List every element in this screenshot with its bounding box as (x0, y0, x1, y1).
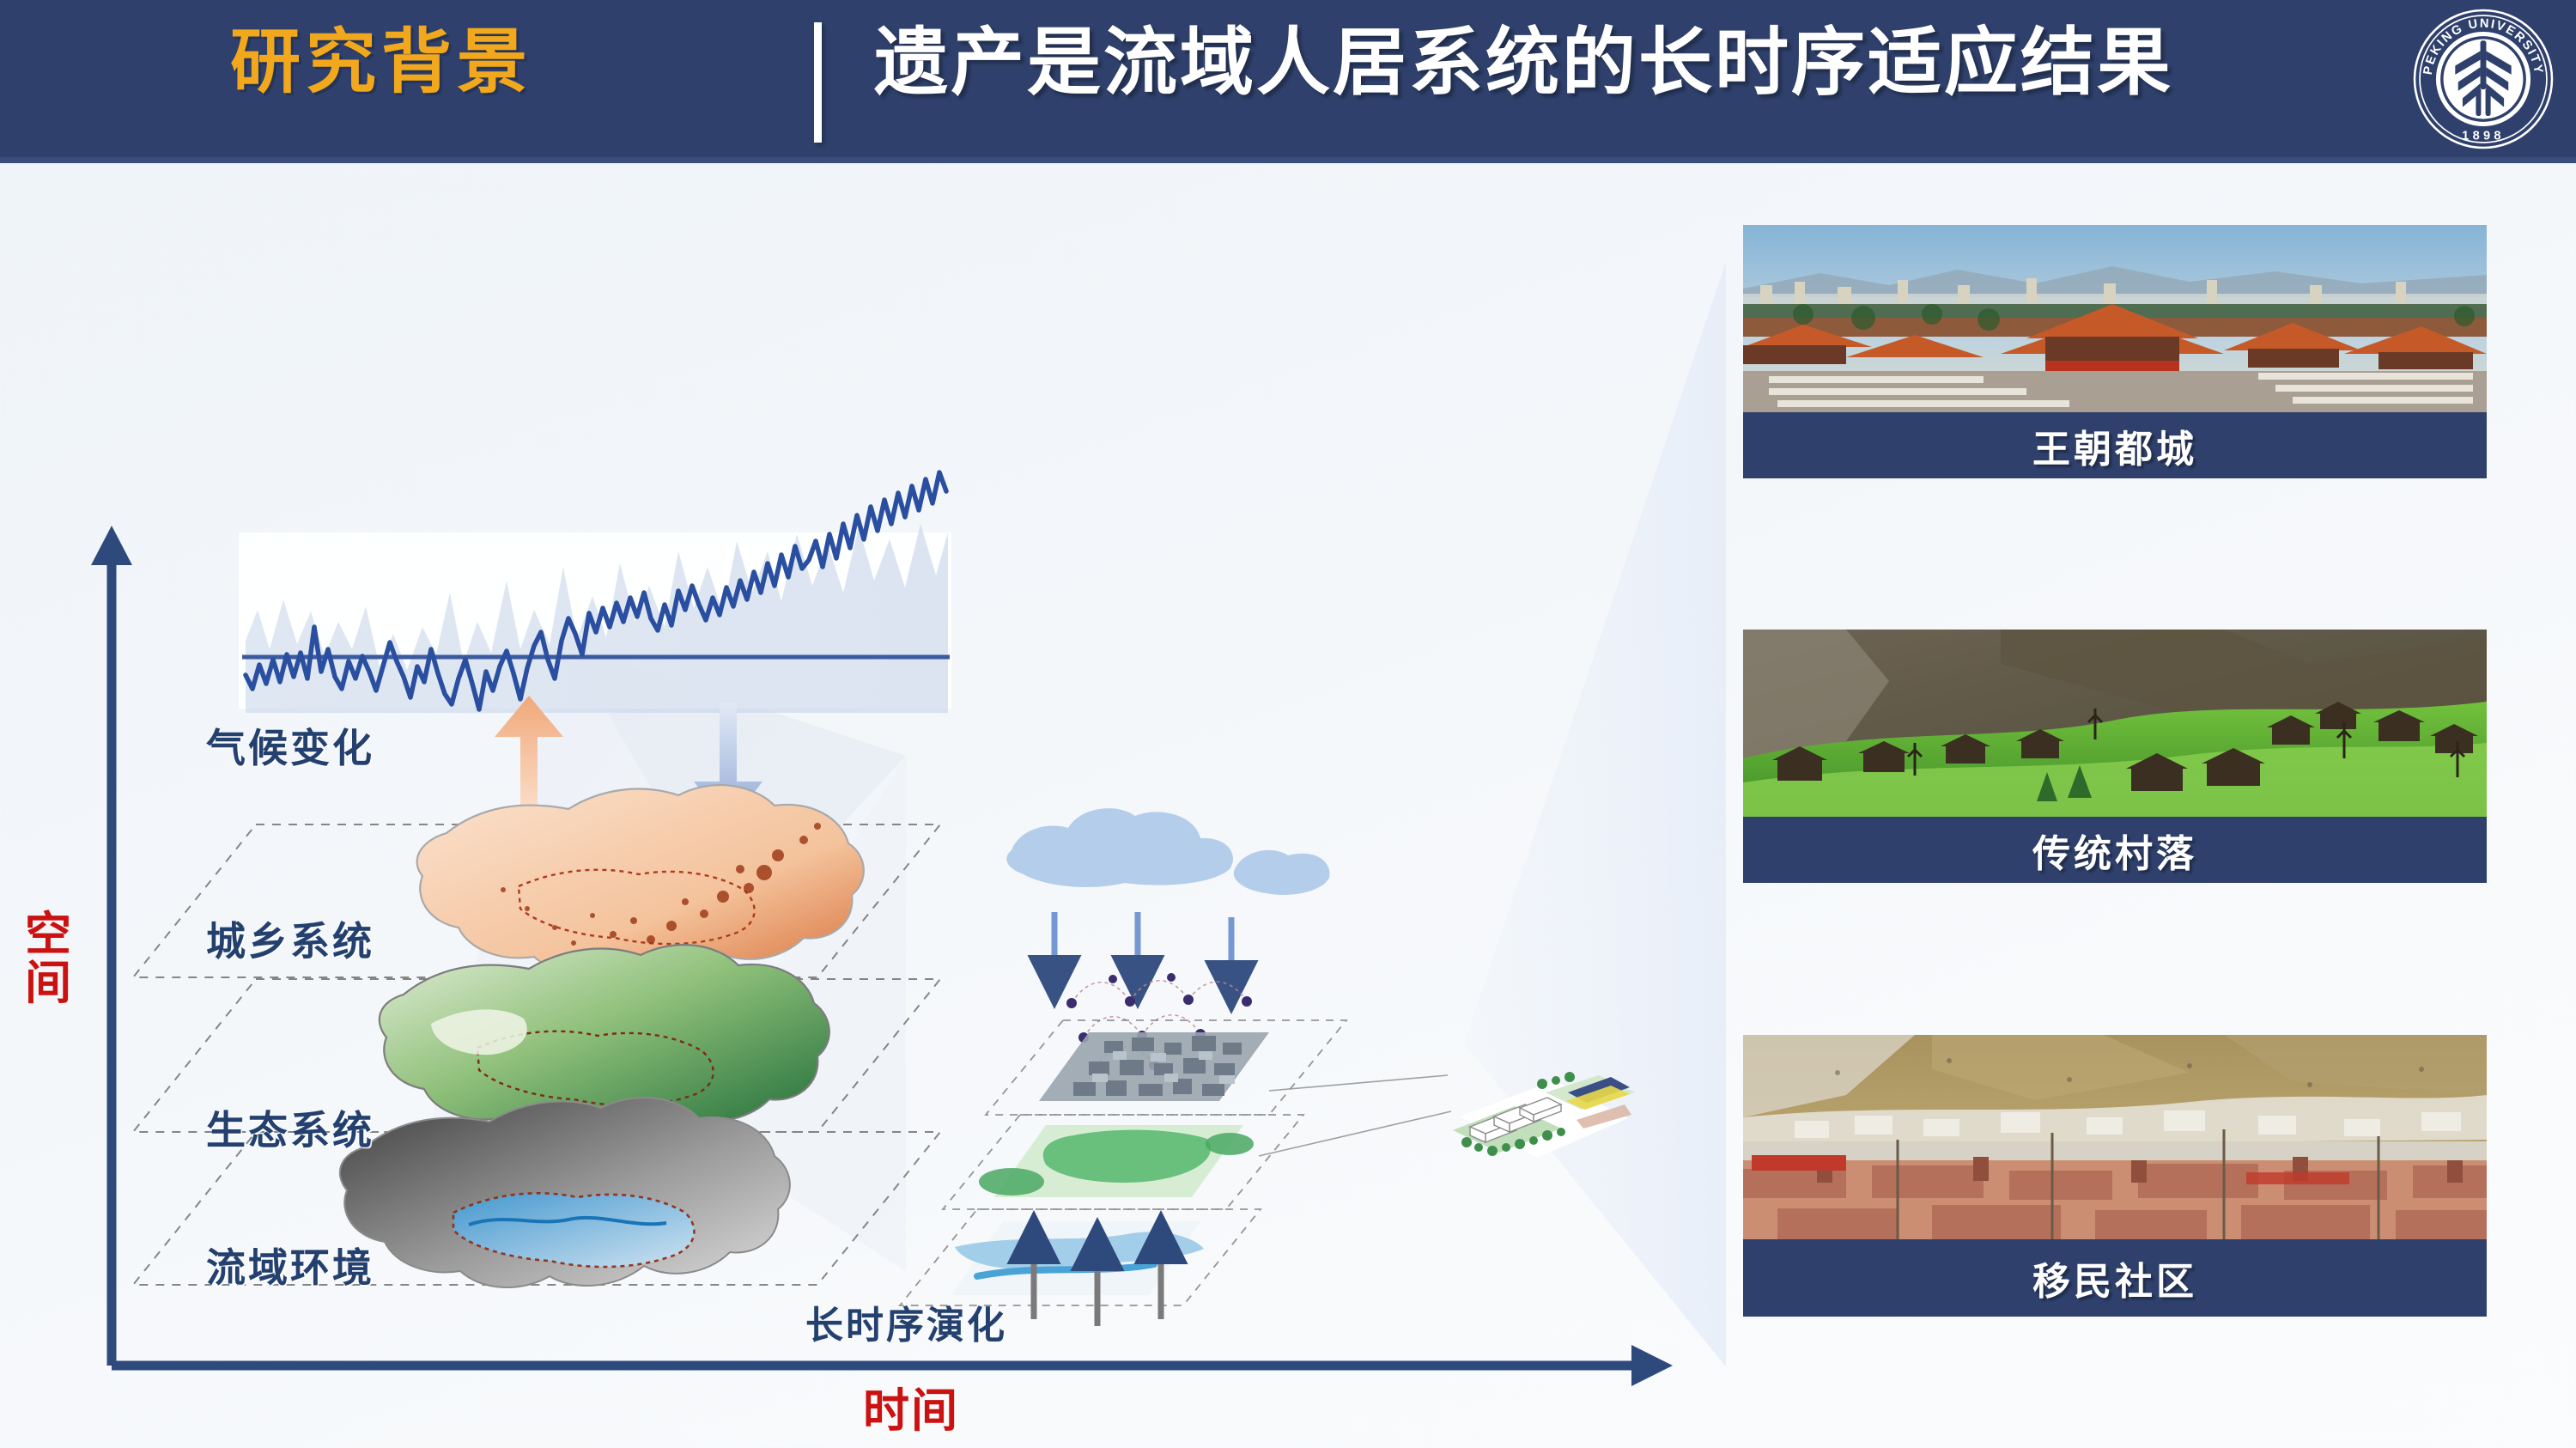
zoom-fan (1464, 223, 1726, 1383)
section-kicker: 研究背景 (230, 22, 532, 103)
header-divider (814, 22, 822, 143)
conceptual-diagram: 空间 时间 气候变化 城乡系统 生态系统 流域环境 长时序演化 (0, 163, 1726, 1448)
layer-label-basin: 流域环境 (206, 1237, 374, 1293)
peking-university-seal-logo: PEKING UNIVERSITY 1898 (2409, 5, 2557, 153)
photo-traditional-village (1743, 630, 2487, 817)
photo-migrant-community (1743, 1035, 2487, 1239)
layer-label-climate: 气候变化 (206, 717, 374, 774)
photo-card-traditional-village[interactable]: 传统村落 (1743, 630, 2487, 883)
photo-caption-traditional-village: 传统村落 (1743, 817, 2487, 883)
y-axis-label: 空间 (19, 910, 79, 1007)
layer-label-urban: 城乡系统 (206, 910, 374, 967)
photo-card-migrant-community[interactable]: 移民社区 (1743, 1035, 2487, 1317)
climate-change-chart (239, 472, 951, 713)
water-basin-layer (951, 1221, 1204, 1295)
header-accent-bar (0, 157, 2576, 163)
cloud-icons (1006, 808, 1329, 895)
slide-title: 遗产是流域人居系统的长时序适应结果 (874, 19, 2173, 107)
slide-header: 研究背景 遗产是流域人居系统的长时序适应结果 PEKING UNIVERSITY… (0, 0, 2576, 163)
photo-caption-migrant-community: 移民社区 (1743, 1239, 2487, 1317)
photo-card-dynastic-capital[interactable]: 王朝都城 (1743, 225, 2487, 478)
city-block-layer (1039, 1032, 1269, 1101)
photo-dynastic-capital (1743, 225, 2487, 412)
photo-caption-dynastic-capital: 王朝都城 (1743, 412, 2487, 478)
x-axis-label: 时间 (863, 1387, 959, 1436)
map-basin-environment (340, 1098, 790, 1287)
precipitation-arrows (1054, 912, 1231, 972)
logo-year-text: 1898 (2462, 130, 2505, 143)
exploded-city-stack (900, 808, 1451, 1326)
green-ecosystem-layer (979, 1125, 1254, 1197)
map-urban-system (417, 785, 864, 973)
evolution-axis-label: 长时序演化 (805, 1294, 1007, 1349)
layer-label-ecosystem: 生态系统 (206, 1099, 374, 1156)
